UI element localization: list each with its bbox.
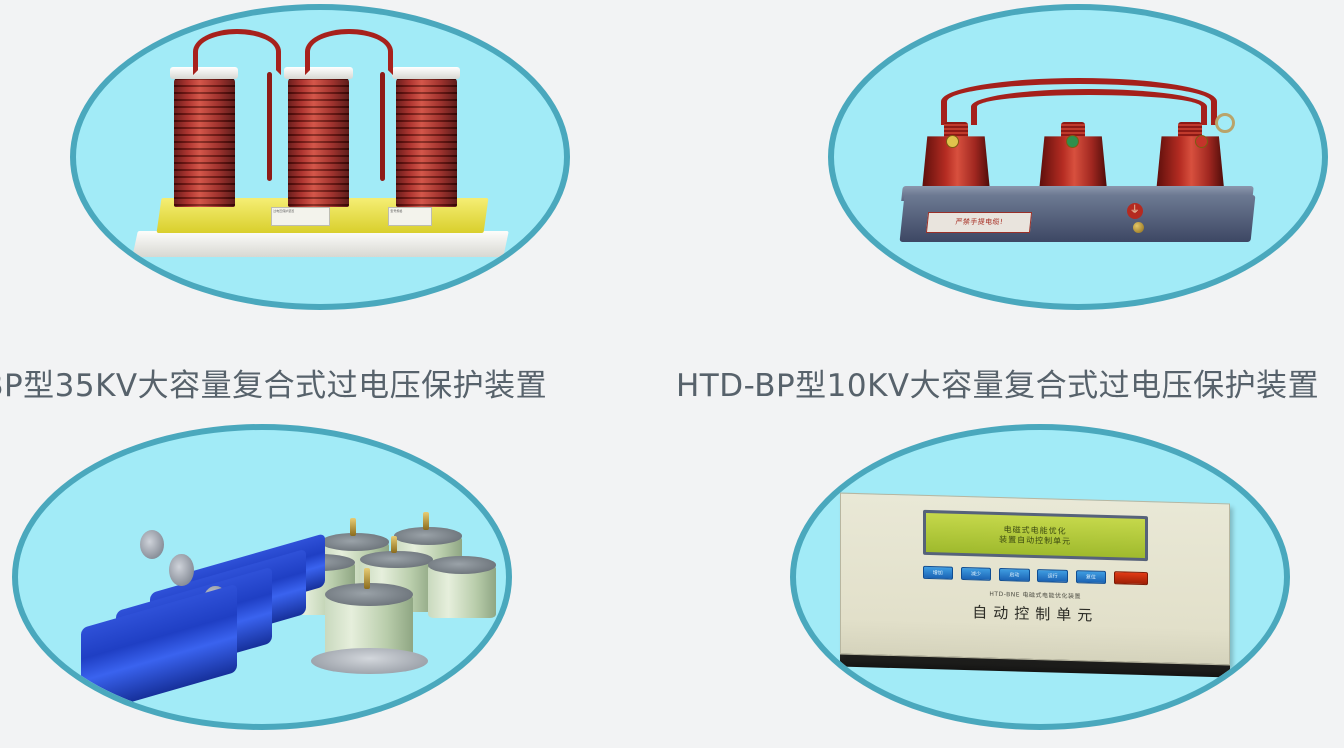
lcd-bezel: 电磁式电能优化 装置自动控制单元 xyxy=(922,510,1147,561)
caption-10kv: HTD-BP型10KV大容量复合式过电压保护装置 xyxy=(676,360,1319,405)
capacitor-flange-3 xyxy=(140,530,164,559)
core-stud-r2b xyxy=(391,536,397,554)
button-reset[interactable]: 复位 xyxy=(1076,570,1106,584)
arrester-unit-b xyxy=(288,78,349,207)
photo-automatic-control-unit: 电磁式电能优化 装置自动控制单元 增加 减少 启动 运行 复位 HTD-BNE … xyxy=(796,430,1284,724)
core-top-r2b xyxy=(360,551,433,569)
nameplate-main: 过电压保护装置 xyxy=(271,207,330,226)
warning-label: 严禁手提电缆! xyxy=(926,212,1033,233)
mounting-plate xyxy=(132,231,508,257)
photo-frame-35kv-arrester: 过电压保护装置 型号规格 xyxy=(70,4,570,310)
photo-frame-10kv-arrester: 严禁手提电缆! ⏚ xyxy=(828,4,1328,310)
cable-tail-1 xyxy=(267,72,272,181)
core-stud-front xyxy=(364,568,370,589)
caption-35kv: HTD-BP型35KV大容量复合式过电压保护装置 xyxy=(0,360,547,405)
core-foot-front xyxy=(311,648,428,674)
core-stud-r1b xyxy=(423,512,429,530)
nameplate-secondary: 型号规格 xyxy=(388,207,432,226)
arrester-unit-c xyxy=(396,78,457,207)
control-panel-body: 电磁式电能优化 装置自动控制单元 增加 减少 启动 运行 复位 HTD-BNE … xyxy=(840,492,1230,665)
lcd-screen: 电磁式电能优化 装置自动控制单元 xyxy=(925,513,1144,558)
phase-marker-b xyxy=(1066,135,1079,148)
photo-frame-capacitor-stock xyxy=(12,424,512,730)
cable-terminal-lug xyxy=(1215,113,1235,133)
photo-frame-control-unit: 电磁式电能优化 装置自动控制单元 增加 减少 启动 运行 复位 HTD-BNE … xyxy=(790,424,1290,730)
earth-symbol-icon: ⏚ xyxy=(1127,203,1143,219)
button-row: 增加 减少 启动 运行 复位 xyxy=(922,566,1147,585)
arrester-unit-a xyxy=(174,78,235,207)
button-emergency-stop[interactable] xyxy=(1114,571,1148,585)
connection-cable-ab xyxy=(193,29,281,74)
arrester-cone-c xyxy=(1156,136,1224,192)
cable-tail-2 xyxy=(380,72,385,181)
core-stud-r1a xyxy=(350,518,356,536)
lcd-line-2: 装置自动控制单元 xyxy=(999,534,1071,546)
photo-35kv-arrester-assembly: 过电压保护装置 型号规格 xyxy=(76,10,564,304)
capacitor-flange-2 xyxy=(169,554,193,586)
button-decrease[interactable]: 减少 xyxy=(961,567,991,581)
photo-capacitor-and-core-stock xyxy=(18,430,506,724)
button-run[interactable]: 运行 xyxy=(1037,569,1067,583)
arrester-cap-c xyxy=(392,67,460,79)
connection-cable-bc xyxy=(305,29,393,74)
caption-row: HTD-BP型35KV大容量复合式过电压保护装置 HTD-BP型10KV大容量复… xyxy=(0,352,1344,410)
button-start[interactable]: 启动 xyxy=(999,568,1029,582)
core-top-r2c xyxy=(428,556,496,574)
button-increase[interactable]: 增加 xyxy=(922,566,952,580)
cable-harness-inner xyxy=(971,89,1207,124)
photo-10kv-arrester-assembly: 严禁手提电缆! ⏚ xyxy=(834,10,1322,304)
